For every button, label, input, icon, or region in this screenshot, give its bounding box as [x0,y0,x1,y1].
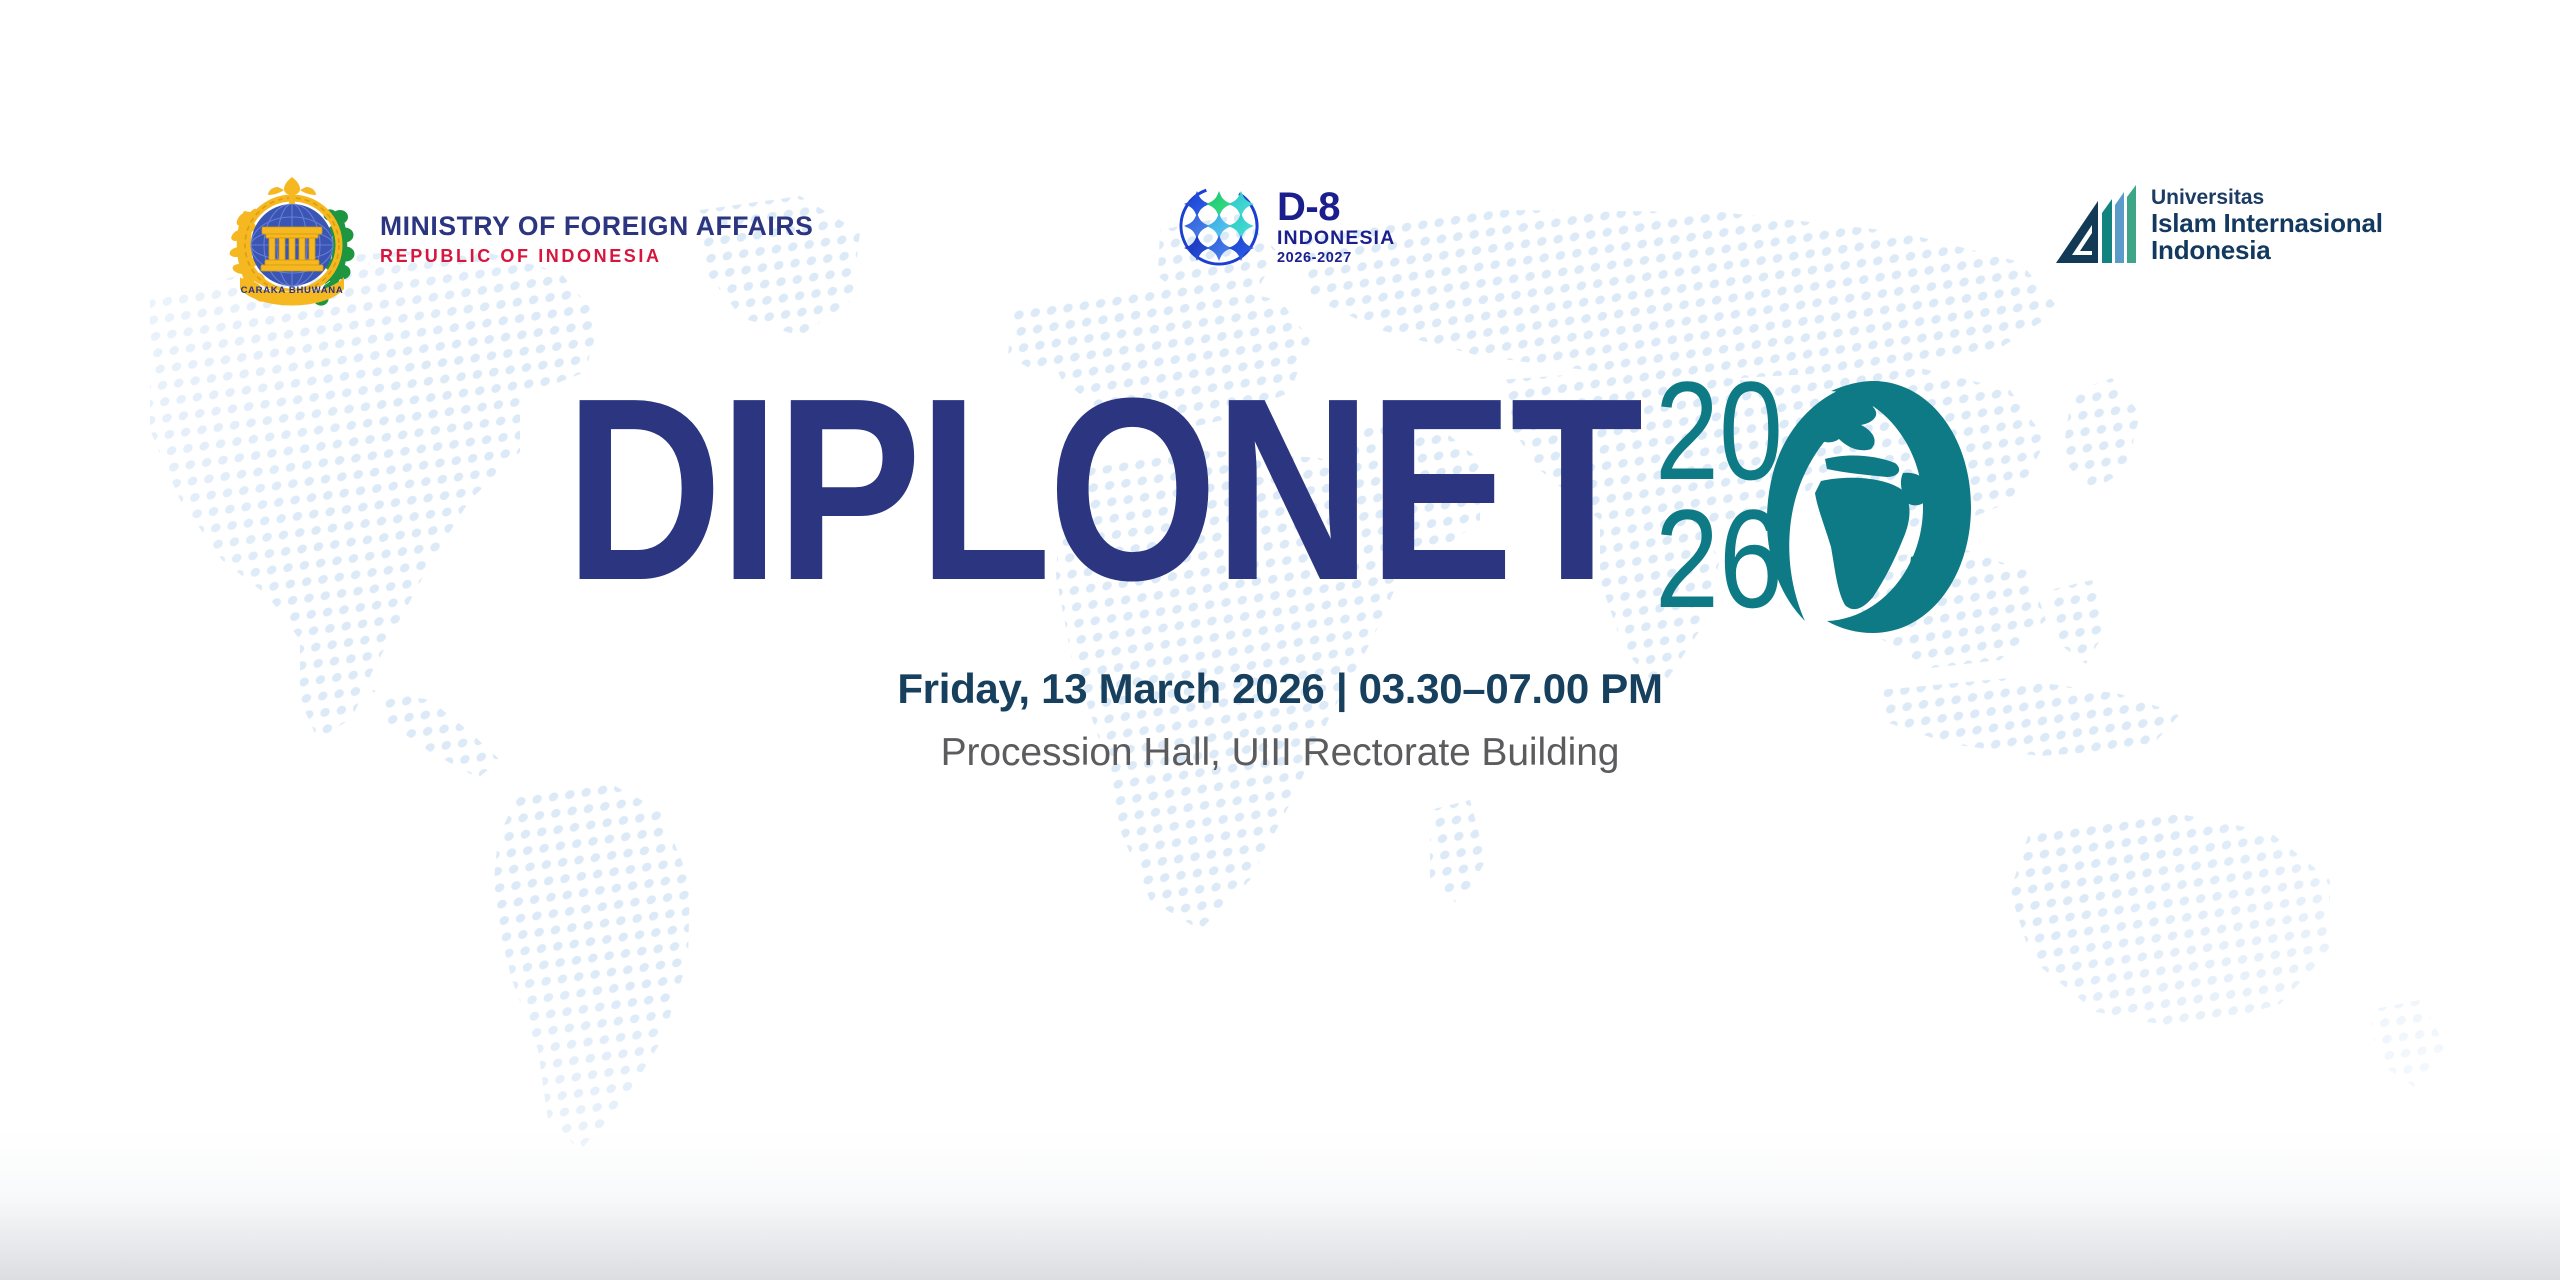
uiii-logo: Universitas Islam Internasional Indonesi… [2052,183,2383,269]
globe-icon [1767,381,1971,633]
ministry-name-line2: REPUBLIC OF INDONESIA [380,247,813,265]
uiii-ascending-bars-mark-icon [2052,183,2138,269]
d8-geometric-star-mark-icon [1173,180,1265,272]
d8-indonesia-logo: D-8 INDONESIA 2026-2027 [1173,180,1395,272]
wordmark-row: DIPLONET 20 26 [0,355,2560,655]
diplonet-2026-wordmark: DIPLONET 20 26 [565,355,1995,645]
uiii-line2: Islam Internasional [2151,210,2383,238]
bottom-gradient-fade [0,1130,2560,1280]
event-date-time: Friday, 13 March 2026 | 03.30–07.00 PM [0,665,2560,713]
indonesia-mofa-emblem-icon: CARAKA BHUWANA [218,165,366,313]
partner-logo-row: CARAKA BHUWANA MINISTRY OF FOREIGN AFFAI… [0,0,2560,330]
ministry-name-line1: MINISTRY OF FOREIGN AFFAIRS [380,213,813,240]
hero-section: DIPLONET 20 26 [0,355,2560,775]
wordmark-year-bottom: 26 [1655,480,1783,637]
event-venue: Procession Hall, UIII Rectorate Building [0,731,2560,775]
event-banner: CARAKA BHUWANA MINISTRY OF FOREIGN AFFAI… [0,0,2560,1280]
wordmark-diplonet-text: DIPLONET [565,355,1643,635]
ministry-of-foreign-affairs-logo: CARAKA BHUWANA MINISTRY OF FOREIGN AFFAI… [218,165,813,313]
uiii-line3: Indonesia [2151,237,2383,265]
uiii-line1: Universitas [2151,187,2383,209]
d8-title: D-8 [1277,187,1395,227]
d8-country: INDONESIA [1277,229,1395,249]
svg-text:CARAKA BHUWANA: CARAKA BHUWANA [241,285,344,296]
d8-years: 2026-2027 [1277,251,1395,266]
